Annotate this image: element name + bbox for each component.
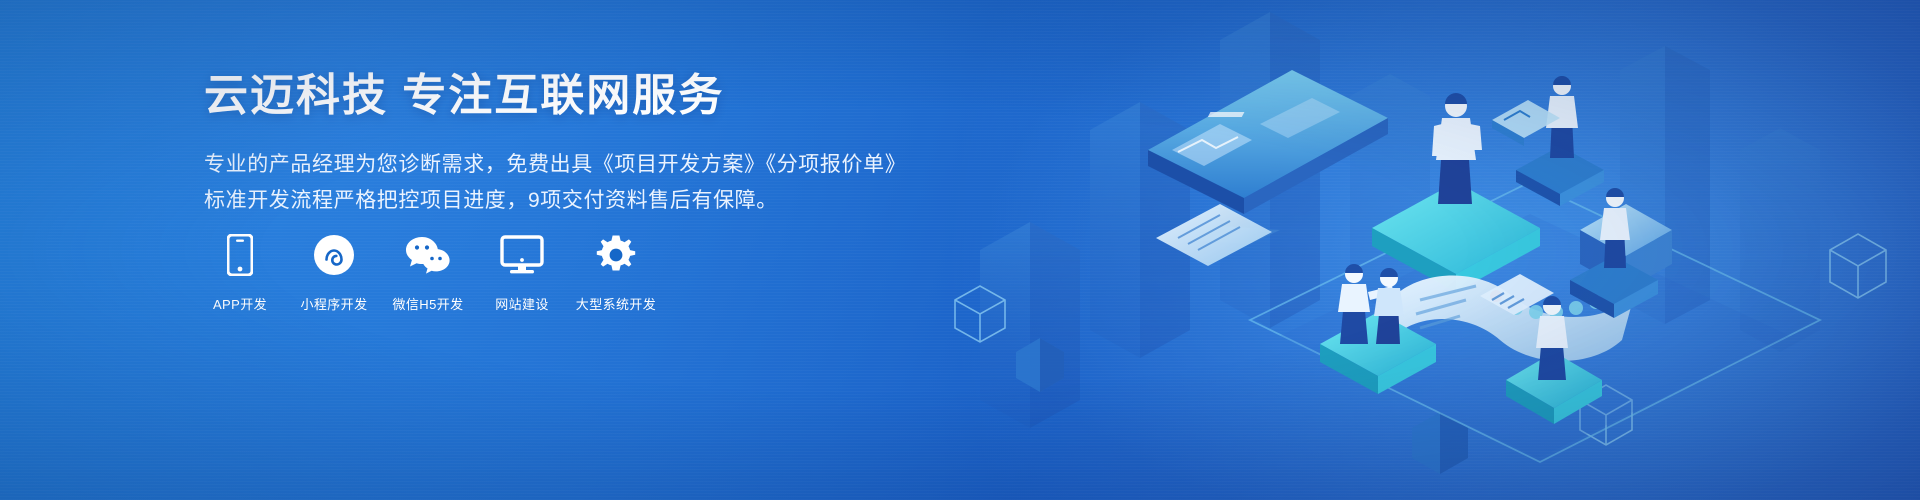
gear-icon	[595, 232, 637, 278]
hero-copy: 云迈科技 专注互联网服务 专业的产品经理为您诊断需求，免费出具《项目开发方案》《…	[204, 70, 964, 219]
mobile-phone-icon	[227, 232, 253, 278]
service-label: 大型系统开发	[576, 294, 656, 313]
subtitle-line-1: 专业的产品经理为您诊断需求，免费出具《项目开发方案》《分项报价单》	[204, 147, 964, 183]
service-item-app[interactable]: APP开发	[204, 232, 276, 313]
service-item-large-system[interactable]: 大型系统开发	[580, 232, 652, 313]
subtitle-line-2: 标准开发流程严格把控项目进度，9项交付资料售后有保障。	[204, 183, 964, 219]
hero-banner: 云迈科技 专注互联网服务 专业的产品经理为您诊断需求，免费出具《项目开发方案》《…	[0, 0, 1920, 500]
service-list: APP开发 小程序开发 微信	[204, 232, 674, 313]
service-label: 微信H5开发	[392, 294, 463, 313]
monitor-icon	[500, 232, 544, 278]
wechat-icon	[405, 232, 451, 278]
service-label: APP开发	[213, 294, 267, 313]
mini-program-icon	[313, 232, 355, 278]
service-item-wechat-h5[interactable]: 微信H5开发	[392, 232, 464, 313]
service-item-mini-program[interactable]: 小程序开发	[298, 232, 370, 313]
person-center	[1432, 93, 1482, 204]
isometric-illustration	[920, 0, 1920, 500]
service-item-website[interactable]: 网站建设	[486, 232, 558, 313]
page-title: 云迈科技 专注互联网服务	[204, 70, 964, 121]
service-label: 小程序开发	[300, 294, 367, 313]
service-label: 网站建设	[495, 294, 549, 313]
